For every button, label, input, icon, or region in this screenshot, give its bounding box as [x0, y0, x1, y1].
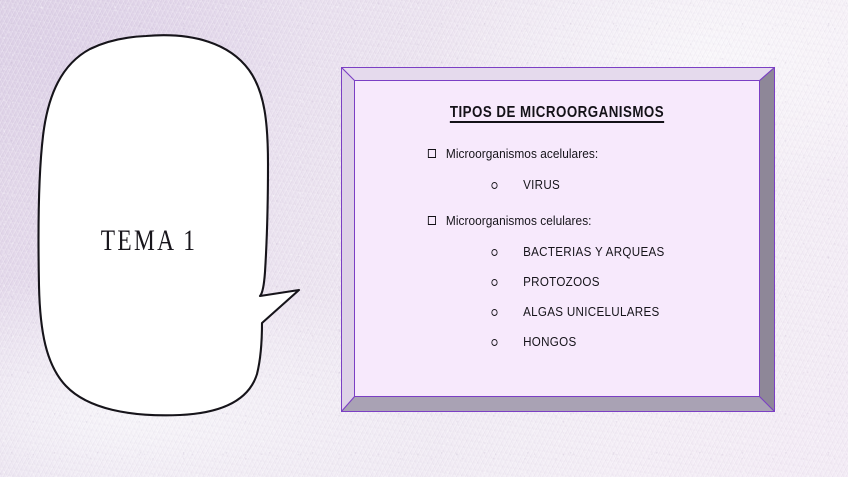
hollow-square-bullet-icon — [428, 216, 436, 225]
list-item-child[interactable]: VIRUS — [355, 177, 711, 192]
microorganism-type-list: Microorganismos acelulares: VIRUS Microo… — [355, 146, 759, 349]
list-item-child[interactable]: HONGOS — [355, 334, 711, 349]
child-label: HONGOS — [523, 334, 576, 349]
hollow-circle-bullet-icon — [491, 182, 497, 189]
group-label: Microorganismos acelulares: — [446, 146, 598, 161]
list-item-group[interactable]: Microorganismos acelulares: — [355, 146, 719, 161]
child-label: BACTERIAS Y ARQUEAS — [523, 244, 665, 259]
slide-canvas: TEMA 1 TIPOS DE MICROORGANISMOS Microorg… — [0, 0, 848, 477]
list-item-group[interactable]: Microorganismos celulares: — [355, 213, 719, 228]
hollow-circle-bullet-icon — [491, 309, 497, 316]
list-item-child[interactable]: BACTERIAS Y ARQUEAS — [355, 244, 711, 259]
child-label: PROTOZOOS — [523, 274, 600, 289]
child-label: VIRUS — [523, 177, 560, 192]
hollow-circle-bullet-icon — [491, 249, 497, 256]
list-item-child[interactable]: ALGAS UNICELULARES — [355, 304, 711, 319]
speech-bubble-shape — [18, 28, 318, 418]
group-label: Microorganismos celulares: — [446, 213, 592, 228]
speech-bubble-label: TEMA 1 — [47, 224, 251, 258]
hollow-circle-bullet-icon — [491, 339, 497, 346]
page-title: TIPOS DE MICROORGANISMOS — [383, 81, 730, 122]
hollow-circle-bullet-icon — [491, 279, 497, 286]
panel-body: TIPOS DE MICROORGANISMOS Microorganismos… — [355, 81, 759, 396]
hollow-square-bullet-icon — [428, 149, 436, 158]
child-label: ALGAS UNICELULARES — [523, 304, 659, 319]
list-item-child[interactable]: PROTOZOOS — [355, 274, 711, 289]
content-panel: TIPOS DE MICROORGANISMOS Microorganismos… — [341, 67, 775, 412]
speech-bubble[interactable]: TEMA 1 — [18, 28, 318, 418]
